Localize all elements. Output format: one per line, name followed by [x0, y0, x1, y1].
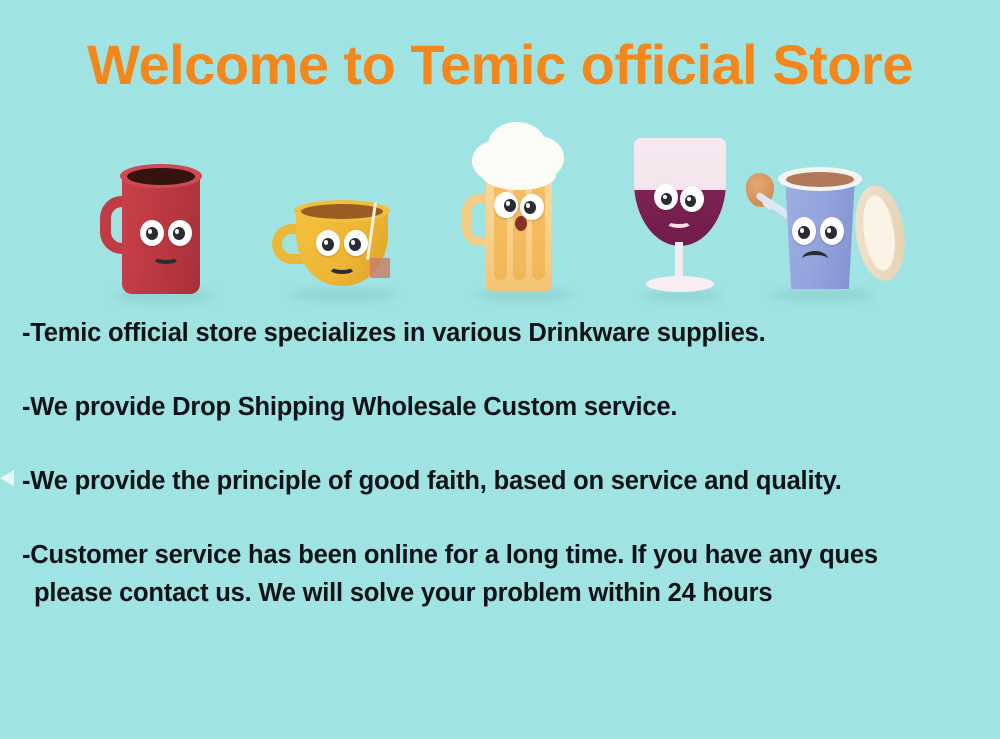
bullet-item-text: -Customer service has been online for a … — [22, 541, 878, 569]
eye-right — [344, 230, 368, 256]
bullet-item: -We provide the principle of good faith,… — [22, 466, 1000, 496]
cup-shadow — [770, 288, 874, 302]
eye-right — [680, 186, 704, 212]
bullet-item: -Customer service has been online for a … — [22, 540, 1000, 608]
mouth-surprised — [515, 216, 527, 231]
left-edge-arrow-artifact — [0, 470, 14, 486]
eye-left — [792, 217, 816, 245]
tea-bag-tag — [370, 258, 390, 278]
beer-glass-body — [486, 172, 552, 292]
eye-left — [494, 192, 518, 218]
mouth-sad — [802, 251, 828, 267]
eye-right — [168, 220, 192, 246]
glass-foot — [646, 276, 714, 292]
cup-shadow — [290, 288, 396, 302]
bullet-item: -We provide Drop Shipping Wholesale Cust… — [22, 392, 1000, 422]
blue-coffee-cup-icon — [740, 155, 910, 300]
glass-bowl — [634, 138, 726, 246]
eye-right — [820, 217, 844, 245]
drinkware-illustration-band — [0, 110, 1000, 300]
coffee-surface — [127, 168, 195, 185]
bullet-item-continuation: please contact us. We will solve your pr… — [22, 578, 1000, 608]
mouth-smile — [328, 260, 356, 274]
mouth-smile — [152, 250, 180, 264]
bullet-list: -Temic official store specializes in var… — [22, 318, 1000, 608]
coffee-surface — [786, 172, 854, 187]
page-title: Welcome to Temic official Store — [0, 36, 1000, 95]
red-coffee-mug-icon — [100, 150, 210, 300]
wine-glass-icon — [620, 130, 740, 300]
eye-left — [654, 184, 678, 210]
eye-left — [140, 220, 164, 246]
beer-foam — [482, 160, 556, 190]
beer-mug-icon — [460, 120, 590, 300]
tea-surface — [301, 204, 383, 219]
bullet-item: -Temic official store specializes in var… — [22, 318, 1000, 348]
yellow-teacup-icon — [270, 172, 400, 300]
eye-left — [316, 230, 340, 256]
store-banner: Welcome to Temic official Store — [0, 0, 1000, 739]
mouth-smile — [666, 216, 692, 228]
